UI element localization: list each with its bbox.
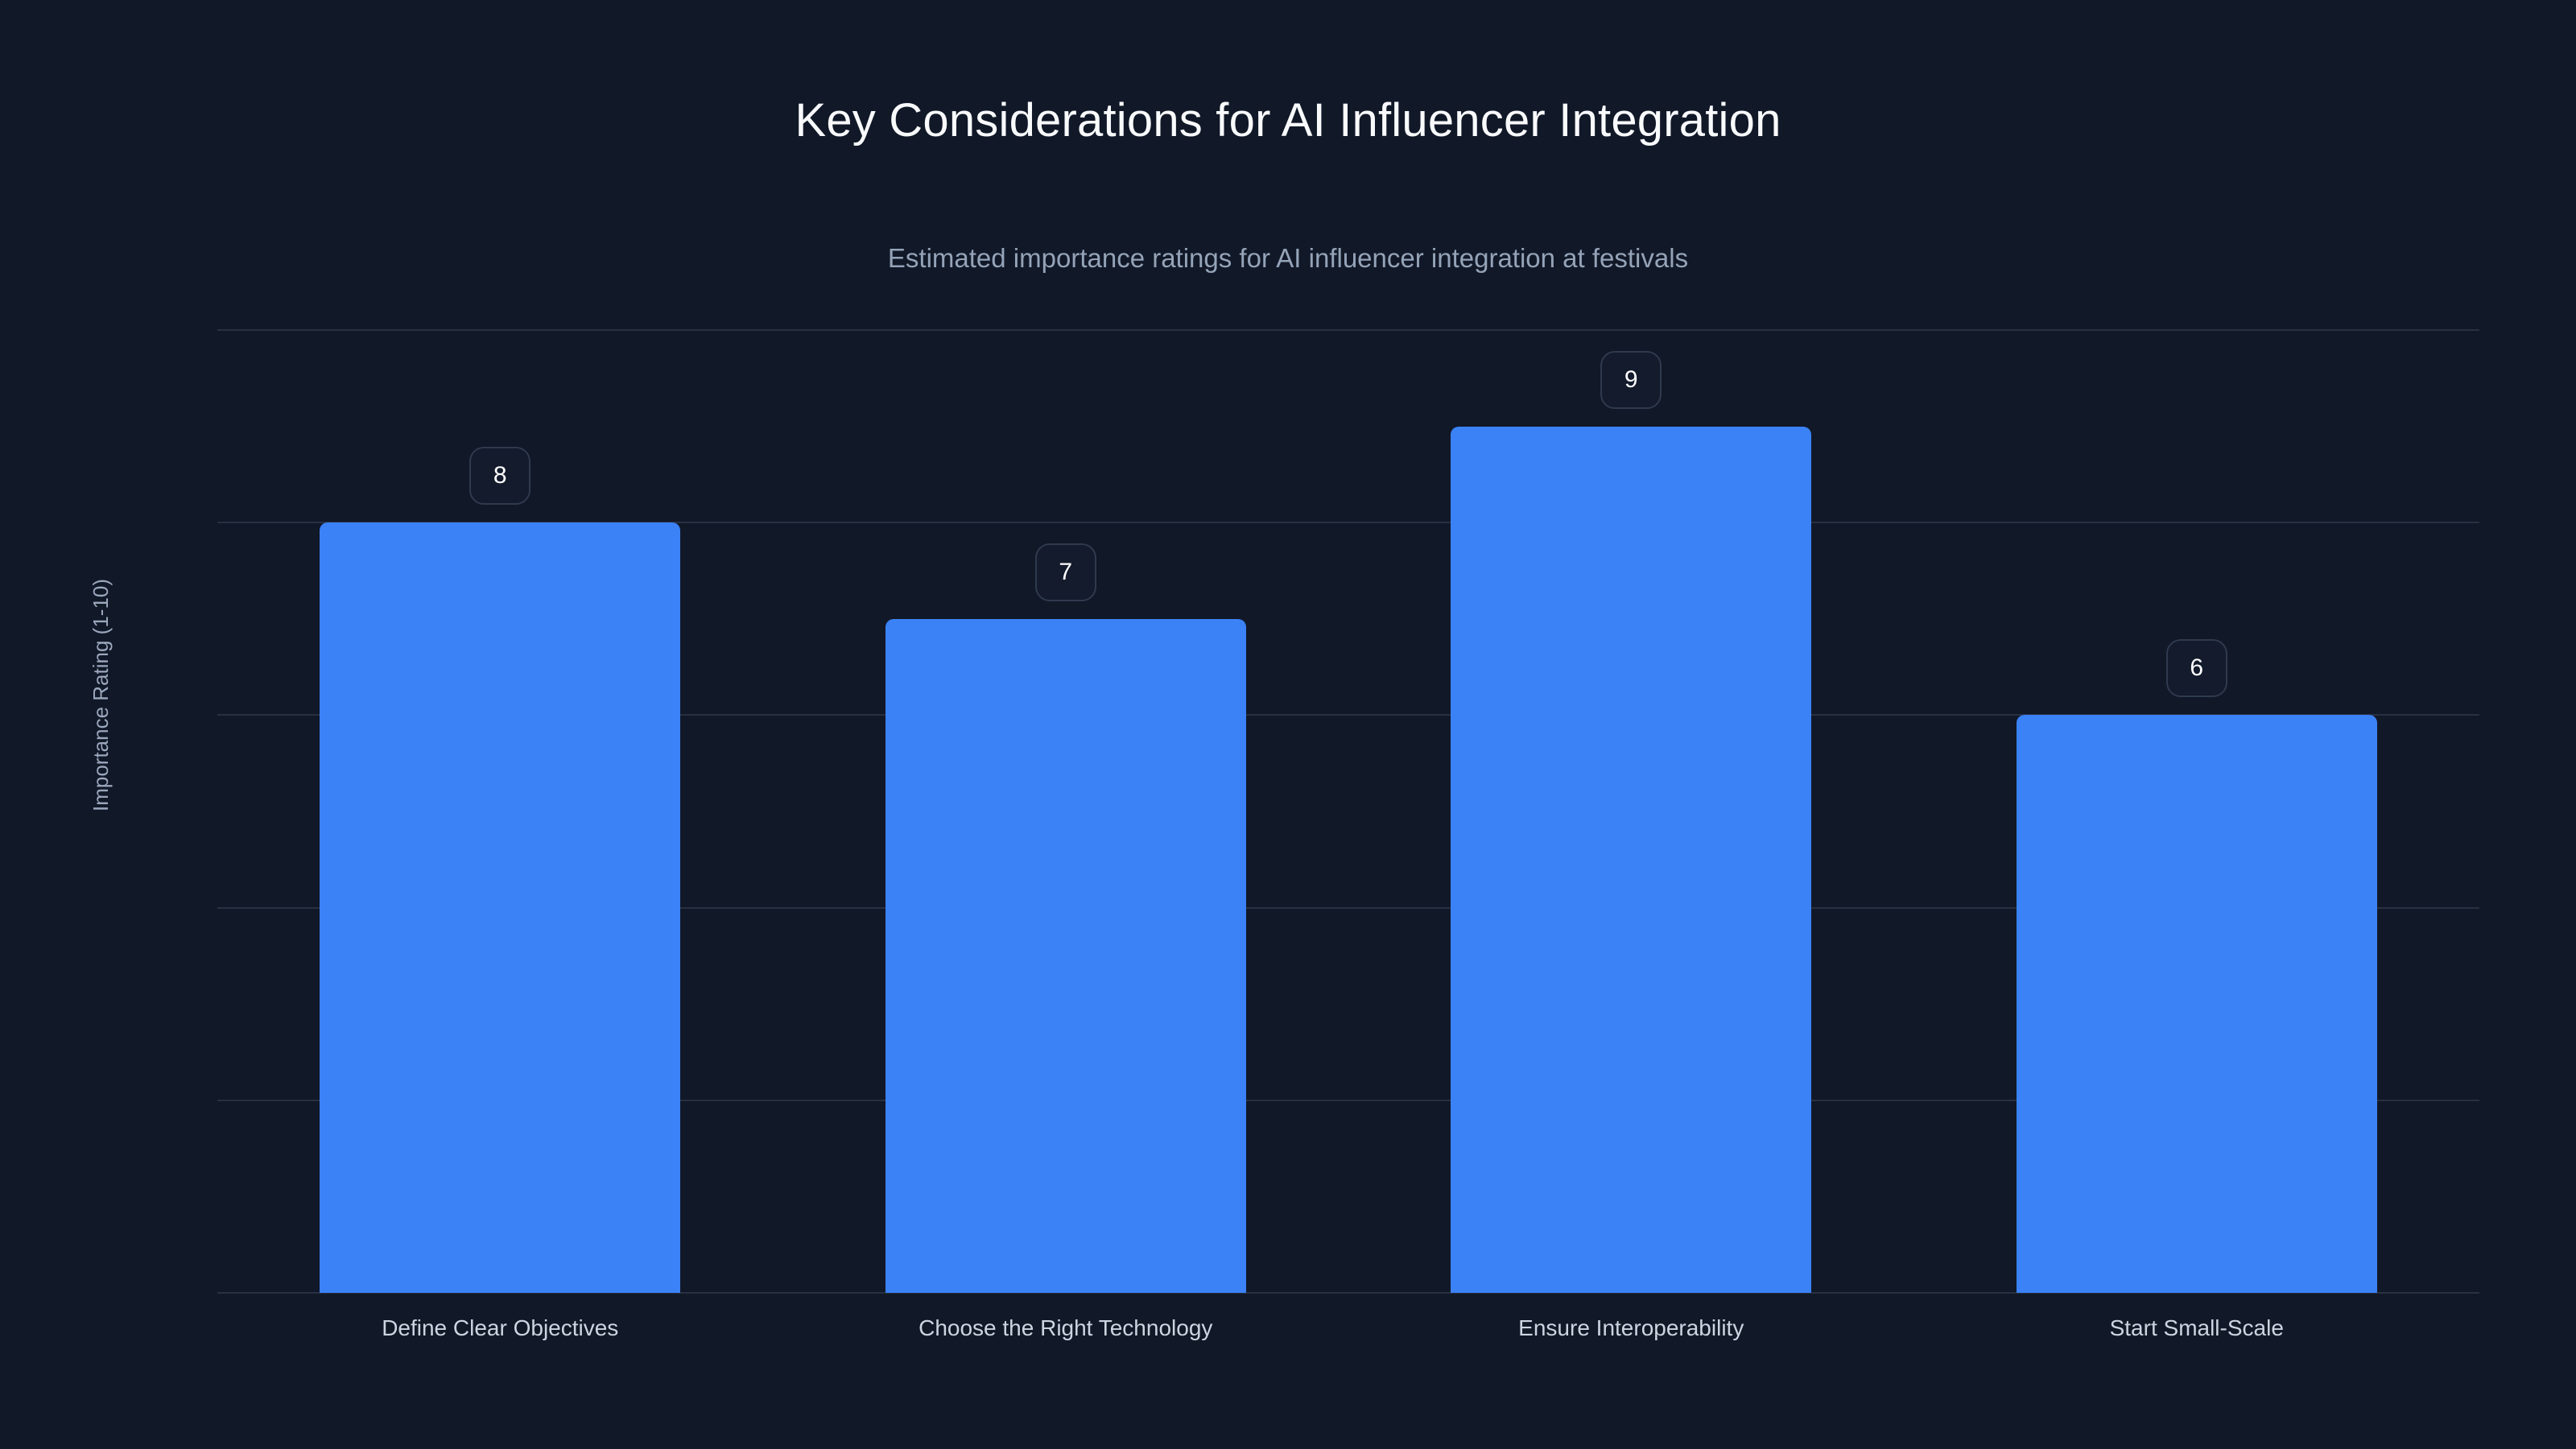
bar-value-badge: 9 — [1600, 351, 1662, 409]
gridline — [217, 329, 2479, 331]
x-tick-label: Choose the Right Technology — [919, 1317, 1212, 1340]
bar-value-badge: 7 — [1035, 543, 1096, 601]
y-axis-title: Importance Rating (1-10) — [89, 579, 114, 811]
chart-title: Key Considerations for AI Influencer Int… — [0, 95, 2576, 147]
bar-value-badge: 6 — [2166, 639, 2227, 697]
bar[interactable] — [320, 522, 680, 1293]
bar-value-badge: 8 — [469, 447, 530, 505]
bar[interactable] — [885, 619, 1246, 1293]
bar[interactable] — [2017, 715, 2377, 1293]
bar-chart-figure: Key Considerations for AI Influencer Int… — [0, 0, 2576, 1449]
plot-area: 8796 — [217, 330, 2479, 1293]
x-tick-label: Start Small-Scale — [2110, 1317, 2284, 1340]
bar[interactable] — [1451, 427, 1811, 1293]
chart-subtitle: Estimated importance ratings for AI infl… — [0, 244, 2576, 273]
x-tick-label: Ensure Interoperability — [1518, 1317, 1744, 1340]
x-tick-label: Define Clear Objectives — [382, 1317, 618, 1340]
